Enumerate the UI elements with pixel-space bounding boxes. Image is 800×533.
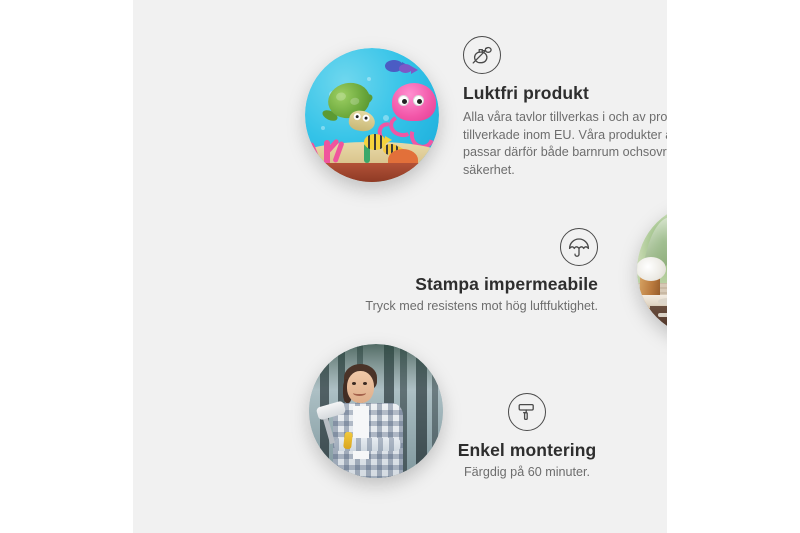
content-panel: Luktfri produkt Alla våra tavlor tillver…: [133, 0, 667, 533]
no-odor-perfume-bottle-icon: [463, 36, 501, 74]
flower-icon: [637, 257, 666, 281]
product-image-bathroom: [637, 203, 667, 337]
feature-odorless: Luktfri produkt Alla våra tavlor tillver…: [463, 36, 667, 179]
feature-assembly: Enkel montering Färgdig på 60 minuter.: [403, 393, 651, 482]
underwater-illustration: [305, 48, 439, 182]
coral-icon: [310, 132, 350, 166]
bathroom-photo: [637, 203, 667, 337]
feature-title: Stampa impermeabile: [333, 274, 598, 295]
avatar: [347, 371, 374, 403]
feature-title: Enkel montering: [403, 440, 651, 461]
paint-roller-icon: [508, 393, 546, 431]
feature-page: Luktfri produkt Alla våra tavlor tillver…: [0, 0, 800, 533]
umbrella-icon: [560, 228, 598, 266]
feature-waterproof: Stampa impermeabile Tryck med resistens …: [333, 228, 598, 316]
fish-purple-icon: [399, 64, 412, 73]
feature-title: Luktfri produkt: [463, 83, 667, 104]
feature-description: Alla våra tavlor tillverkas i och av pro…: [463, 109, 667, 179]
feature-description: Tryck med resistens mot hög luftfuktighe…: [333, 298, 598, 316]
feature-description: Färgdig på 60 minuter.: [403, 464, 651, 482]
product-image-underwater-scene: [305, 48, 439, 182]
